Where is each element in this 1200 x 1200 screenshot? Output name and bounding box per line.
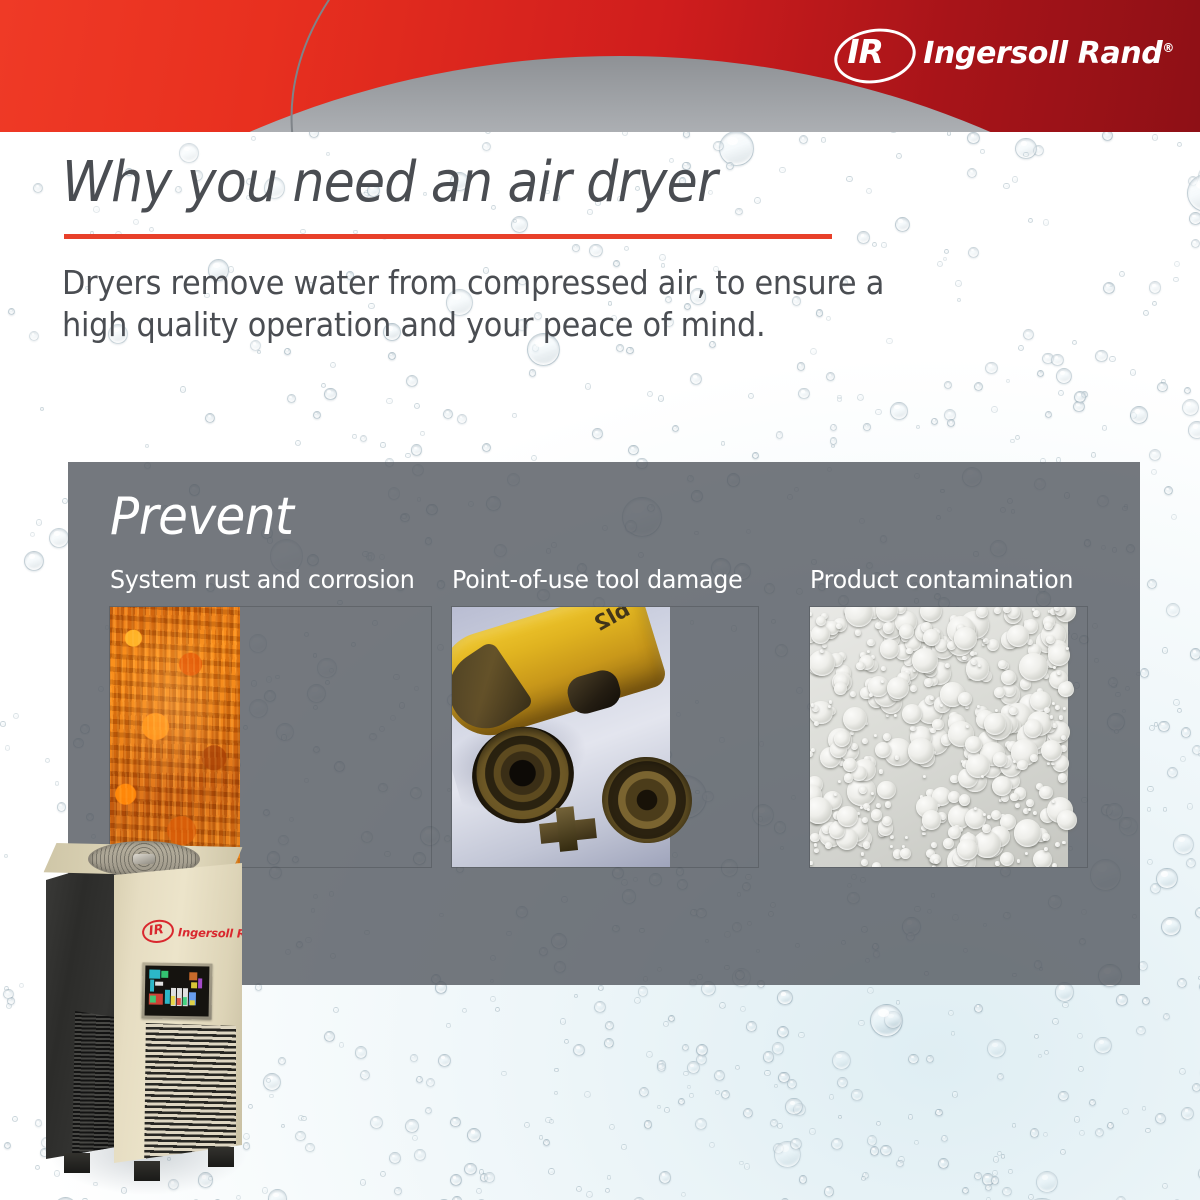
surface-blister <box>814 848 819 853</box>
water-droplet <box>628 445 639 456</box>
water-droplet <box>746 1021 757 1032</box>
rust-photo <box>110 607 431 867</box>
water-droplet <box>830 437 837 444</box>
water-droplet <box>1167 767 1178 778</box>
water-droplet <box>687 1061 700 1074</box>
water-droplet <box>543 1139 550 1146</box>
water-droplet <box>1028 1194 1034 1200</box>
water-droplet <box>414 1149 426 1161</box>
water-droplet <box>1108 283 1113 288</box>
water-droplet <box>1103 282 1115 294</box>
water-droplet <box>324 388 337 401</box>
water-droplet <box>484 1172 495 1183</box>
water-droplet <box>1188 421 1200 439</box>
surface-blister <box>962 656 966 660</box>
water-droplet <box>1130 369 1137 376</box>
surface-blister <box>1030 754 1038 762</box>
surface-blister <box>872 862 882 867</box>
water-droplet <box>1187 174 1200 212</box>
surface-blister <box>940 704 943 707</box>
surface-blister <box>869 693 873 697</box>
surface-blister <box>959 794 971 806</box>
surface-blister <box>855 629 862 636</box>
water-droplet <box>657 1060 667 1070</box>
water-droplet <box>149 227 155 233</box>
surface-blister <box>834 793 837 796</box>
water-droplet <box>997 1151 1002 1156</box>
surface-blister <box>811 625 830 644</box>
water-droplet <box>659 254 666 261</box>
water-droplet <box>584 1091 591 1098</box>
water-droplet <box>678 1098 685 1105</box>
water-droplet <box>281 1124 285 1128</box>
water-droplet <box>380 1171 386 1177</box>
water-droplet <box>1186 858 1196 868</box>
surface-blister <box>1017 760 1027 770</box>
surface-blister <box>890 845 894 849</box>
water-droplet <box>740 1006 746 1012</box>
surface-blister <box>995 709 998 712</box>
water-droplet <box>1028 218 1033 223</box>
surface-blister <box>844 773 854 783</box>
water-droplet <box>1042 353 1054 365</box>
water-droplet <box>589 244 602 257</box>
water-droplet <box>689 1093 694 1098</box>
water-droplet <box>205 413 215 423</box>
water-droplet <box>1073 401 1085 413</box>
surface-blister <box>993 752 1008 767</box>
tool-handwritten-mark: bl2 <box>590 607 634 636</box>
surface-blister <box>994 607 1001 614</box>
water-droplet <box>33 183 43 193</box>
surface-blister <box>923 629 940 646</box>
surface-blister <box>843 758 857 772</box>
surface-blister <box>876 803 881 808</box>
water-droplet <box>773 1143 784 1154</box>
water-droplet <box>1171 514 1178 521</box>
water-droplet <box>743 1108 753 1118</box>
surface-blister <box>1033 811 1037 815</box>
water-droplet <box>19 983 24 988</box>
surface-blister <box>862 817 868 823</box>
water-droplet <box>634 997 641 1004</box>
water-droplet <box>1152 134 1159 141</box>
product-ingersoll-rand-logo: IR Ingersoll Rand® <box>142 920 281 946</box>
water-droplet <box>944 381 952 389</box>
water-droplet <box>1003 183 1010 190</box>
surface-blister <box>816 616 826 626</box>
water-droplet <box>719 131 753 165</box>
surface-blister <box>890 835 894 839</box>
water-droplet <box>1147 579 1157 589</box>
surface-blister <box>810 861 813 864</box>
ingersoll-rand-logo: IR Ingersoll Rand® <box>834 26 1174 81</box>
dryer-foot-left <box>64 1153 90 1173</box>
water-droplet <box>1058 390 1064 396</box>
surface-blister <box>1044 622 1052 630</box>
surface-blister <box>894 714 897 717</box>
water-droplet <box>908 1054 919 1065</box>
water-droplet <box>405 453 411 459</box>
water-droplet <box>49 528 69 548</box>
surface-blister <box>1057 810 1077 830</box>
water-droplet <box>696 1054 707 1065</box>
water-droplet <box>443 409 453 419</box>
water-droplet <box>837 395 842 400</box>
water-droplet <box>1142 1106 1147 1111</box>
surface-blister <box>966 725 969 728</box>
water-droplet <box>411 444 423 456</box>
water-droplet <box>539 1135 543 1139</box>
water-droplet <box>1051 354 1064 367</box>
water-droplet <box>355 1046 367 1058</box>
water-droplet <box>405 1119 419 1133</box>
water-droplet <box>501 1071 507 1077</box>
surface-blister <box>930 728 936 734</box>
surface-blister <box>861 859 868 866</box>
water-droplet <box>709 1142 716 1149</box>
card-label: System rust and corrosion <box>110 565 415 595</box>
surface-blister <box>922 810 942 830</box>
logo-ir-letters: IR <box>847 34 883 70</box>
water-droplet <box>764 1070 771 1077</box>
water-droplet <box>1181 1107 1194 1120</box>
water-droplet <box>1187 803 1194 810</box>
water-droplet <box>721 441 726 446</box>
surface-blister <box>902 704 922 724</box>
water-droplet <box>657 1105 661 1109</box>
water-droplet <box>133 219 139 225</box>
water-droplet <box>896 153 902 159</box>
screen-graphic-block <box>198 978 202 988</box>
product-ir-monogram-icon: IR <box>141 918 176 945</box>
water-droplet <box>1058 1091 1069 1102</box>
water-droplet <box>40 407 44 411</box>
water-droplet <box>690 373 702 385</box>
water-droplet <box>914 1140 919 1145</box>
water-droplet <box>683 1071 688 1076</box>
water-droplet <box>1006 379 1010 383</box>
water-droplet <box>414 403 420 409</box>
surface-blister <box>1063 707 1066 710</box>
surface-blister <box>874 734 877 737</box>
surface-blister <box>867 639 874 646</box>
surface-blister <box>1058 682 1073 697</box>
water-droplet <box>937 261 943 267</box>
water-droplet <box>798 388 810 400</box>
water-droplet <box>1156 868 1178 890</box>
water-droplet <box>1130 412 1137 419</box>
surface-blister <box>945 663 950 668</box>
water-droplet <box>180 386 186 392</box>
water-droplet <box>664 1107 670 1113</box>
water-droplet <box>875 409 882 416</box>
water-droplet <box>857 394 864 401</box>
damaged-tool-image: bl2 <box>452 607 670 867</box>
surface-blister <box>981 775 984 778</box>
water-droplet <box>916 425 920 429</box>
water-droplet <box>772 1042 785 1055</box>
water-droplet <box>416 1076 424 1084</box>
water-droplet <box>576 1186 582 1192</box>
screen-graphic-block <box>165 990 170 1004</box>
water-droplet <box>1166 603 1180 617</box>
water-droplet <box>943 257 947 261</box>
water-droplet <box>1036 1171 1058 1193</box>
water-droplet <box>991 406 998 413</box>
water-droplet <box>1147 807 1152 812</box>
water-droplet <box>598 985 604 991</box>
surface-blister <box>1050 715 1054 719</box>
water-droplet <box>1122 1108 1129 1115</box>
water-droplet <box>585 383 592 390</box>
surface-blister <box>845 607 873 627</box>
water-droplet <box>944 249 949 254</box>
surface-blister <box>1062 841 1065 844</box>
water-droplet <box>658 395 665 402</box>
water-droplet <box>779 167 786 174</box>
surface-blister <box>899 624 914 639</box>
water-droplet <box>295 1131 306 1142</box>
water-droplet <box>360 435 367 442</box>
surface-blister <box>886 714 889 717</box>
water-droplet <box>715 1090 720 1095</box>
dryer-control-panel[interactable] <box>142 962 213 1019</box>
water-droplet <box>1189 212 1200 225</box>
surface-blister <box>1047 762 1050 765</box>
water-droplet <box>295 440 301 446</box>
water-droplet <box>1163 1013 1170 1020</box>
prevent-card-list: System rust and corrosion Point-of-use t… <box>110 565 1120 865</box>
water-droplet <box>1151 469 1157 475</box>
water-droplet <box>992 1170 998 1176</box>
surface-blister <box>1059 715 1063 719</box>
water-droplet <box>1152 301 1157 306</box>
surface-blister <box>810 612 812 616</box>
water-droplet <box>1034 1034 1039 1039</box>
surface-blister <box>1053 666 1056 669</box>
surface-blister <box>871 809 882 820</box>
water-droplet <box>872 242 877 247</box>
surface-blister <box>900 848 911 859</box>
surface-blister <box>871 792 874 795</box>
water-droplet <box>1074 391 1086 403</box>
water-droplet <box>739 1161 744 1166</box>
water-droplet <box>881 242 887 248</box>
surface-blister <box>1051 762 1055 766</box>
surface-blister <box>1058 773 1068 783</box>
water-droplet <box>467 1128 482 1143</box>
water-droplet <box>1142 997 1150 1005</box>
screen-graphic-block <box>171 996 175 1005</box>
water-droplet <box>982 1173 995 1186</box>
surface-blister <box>995 861 999 865</box>
water-droplet <box>564 1039 569 1044</box>
water-droplet <box>4 854 8 858</box>
water-droplet <box>962 1187 970 1195</box>
water-droplet <box>985 362 998 375</box>
water-droplet <box>145 444 150 449</box>
water-droplet <box>832 1051 851 1070</box>
water-droplet <box>1033 145 1044 156</box>
card-label: Point-of-use tool damage <box>452 565 742 595</box>
water-droplet <box>821 137 826 142</box>
water-droplet <box>278 1057 286 1065</box>
water-droplet <box>993 1156 999 1162</box>
product-logo-wordmark: Ingersoll Rand® <box>178 925 281 941</box>
water-droplet <box>482 443 491 452</box>
water-droplet <box>831 444 835 448</box>
water-droplet <box>778 1072 789 1083</box>
water-droplet <box>605 1021 614 1030</box>
water-droplet <box>985 1184 992 1191</box>
water-droplet <box>480 1173 488 1181</box>
water-droplet <box>352 434 357 439</box>
surface-blister <box>970 651 975 656</box>
surface-blister <box>843 707 868 732</box>
surface-blister <box>987 815 991 819</box>
water-droplet <box>511 216 529 234</box>
water-droplet <box>57 802 66 811</box>
water-droplet <box>790 1138 802 1150</box>
water-droplet <box>866 188 872 194</box>
water-droplet <box>890 402 908 420</box>
water-droplet <box>681 1192 686 1197</box>
water-droplet <box>777 990 793 1006</box>
water-droplet <box>301 1116 307 1122</box>
water-droplet <box>1164 486 1174 496</box>
water-droplet <box>1023 329 1034 340</box>
water-droplet <box>647 391 653 397</box>
surface-blister <box>810 797 832 824</box>
screen-graphic-block <box>150 996 156 1003</box>
water-droplet <box>604 1038 614 1048</box>
surface-blister <box>1010 793 1019 802</box>
water-droplet <box>3 989 14 1000</box>
water-droplet <box>898 1156 905 1163</box>
surface-blister <box>836 623 842 629</box>
water-droplet <box>785 1098 803 1116</box>
water-droplet <box>1018 345 1024 351</box>
water-droplet <box>36 519 43 526</box>
water-droplet <box>574 994 578 998</box>
water-droplet <box>1072 340 1077 345</box>
surface-blister <box>1007 625 1029 647</box>
surface-blister <box>1024 719 1042 737</box>
surface-blister <box>1014 819 1042 847</box>
screen-graphic-block <box>155 982 163 986</box>
water-droplet <box>826 372 835 381</box>
surface-blister <box>991 810 1001 820</box>
water-droplet <box>598 986 603 991</box>
water-droplet <box>545 1117 551 1123</box>
screen-graphic-block <box>149 970 160 979</box>
ir-monogram-icon: IR <box>834 26 912 81</box>
water-droplet <box>8 308 15 315</box>
water-droplet <box>420 431 425 436</box>
water-droplet <box>774 1141 801 1168</box>
water-droplet <box>1192 745 1200 755</box>
water-droplet <box>1162 647 1169 654</box>
surface-blister <box>1057 671 1061 675</box>
water-droplet <box>29 331 39 341</box>
infographic-canvas: IR Ingersoll Rand® Why you need an air d… <box>0 0 1200 1200</box>
water-droplet <box>438 1054 451 1067</box>
surface-blister <box>1009 707 1018 716</box>
water-droplet <box>1184 387 1191 394</box>
water-droplet <box>1158 721 1169 732</box>
water-droplet <box>1147 859 1153 865</box>
water-droplet <box>1188 176 1198 186</box>
water-droplet <box>1010 439 1015 444</box>
dryer-control-screen[interactable] <box>145 965 210 1016</box>
screen-graphic-block <box>191 982 197 988</box>
surface-blister <box>998 660 1007 669</box>
water-droplet <box>857 231 869 243</box>
dryer-foot-right <box>208 1147 234 1167</box>
surface-blister <box>923 775 926 778</box>
water-droplet <box>554 1068 559 1073</box>
water-droplet <box>1062 1002 1069 1009</box>
surface-blister <box>875 742 891 758</box>
water-droplet <box>799 135 808 144</box>
water-droplet <box>1094 1037 1111 1054</box>
water-droplet <box>948 1010 954 1016</box>
water-droplet <box>1162 1183 1168 1189</box>
prevent-card-tool-damage: Point-of-use tool damage bl2 <box>452 565 758 867</box>
water-droplet <box>1044 1050 1049 1055</box>
water-droplet <box>412 1135 418 1141</box>
contamination-photo <box>810 607 1087 867</box>
title-underline-rule <box>64 234 832 239</box>
surface-blister <box>867 650 870 653</box>
water-droplet <box>695 1118 708 1131</box>
water-droplet <box>830 424 838 432</box>
water-droplet <box>529 369 536 376</box>
water-droplet <box>339 1042 344 1047</box>
surface-blister <box>856 662 865 671</box>
surface-blister <box>867 808 870 811</box>
water-droplet <box>714 1070 726 1082</box>
water-droplet <box>951 1031 956 1036</box>
water-droplet <box>896 1000 900 1004</box>
water-droplet <box>1143 310 1150 317</box>
water-droplet <box>1043 219 1049 225</box>
water-droplet <box>967 132 980 145</box>
surface-blister <box>954 627 977 650</box>
water-droplet <box>938 1158 949 1169</box>
water-droplet <box>624 246 629 251</box>
surface-blister <box>931 842 937 848</box>
water-droplet <box>935 1109 943 1117</box>
water-droplet <box>967 168 977 178</box>
surface-blister <box>908 738 934 764</box>
water-droplet <box>646 1051 653 1058</box>
logo-wordmark: Ingersoll Rand® <box>923 36 1174 71</box>
surface-blister <box>1001 670 1016 685</box>
water-droplet <box>987 1039 1006 1058</box>
water-droplet <box>858 1020 865 1027</box>
surface-blister <box>838 780 841 783</box>
surface-blister <box>861 852 864 855</box>
surface-blister <box>971 659 977 665</box>
water-droplet <box>1102 425 1108 431</box>
water-droplet <box>495 1007 500 1012</box>
water-droplet <box>30 532 36 538</box>
water-droplet <box>1147 786 1154 793</box>
water-droplet <box>777 1026 790 1039</box>
water-droplet <box>774 1084 778 1088</box>
